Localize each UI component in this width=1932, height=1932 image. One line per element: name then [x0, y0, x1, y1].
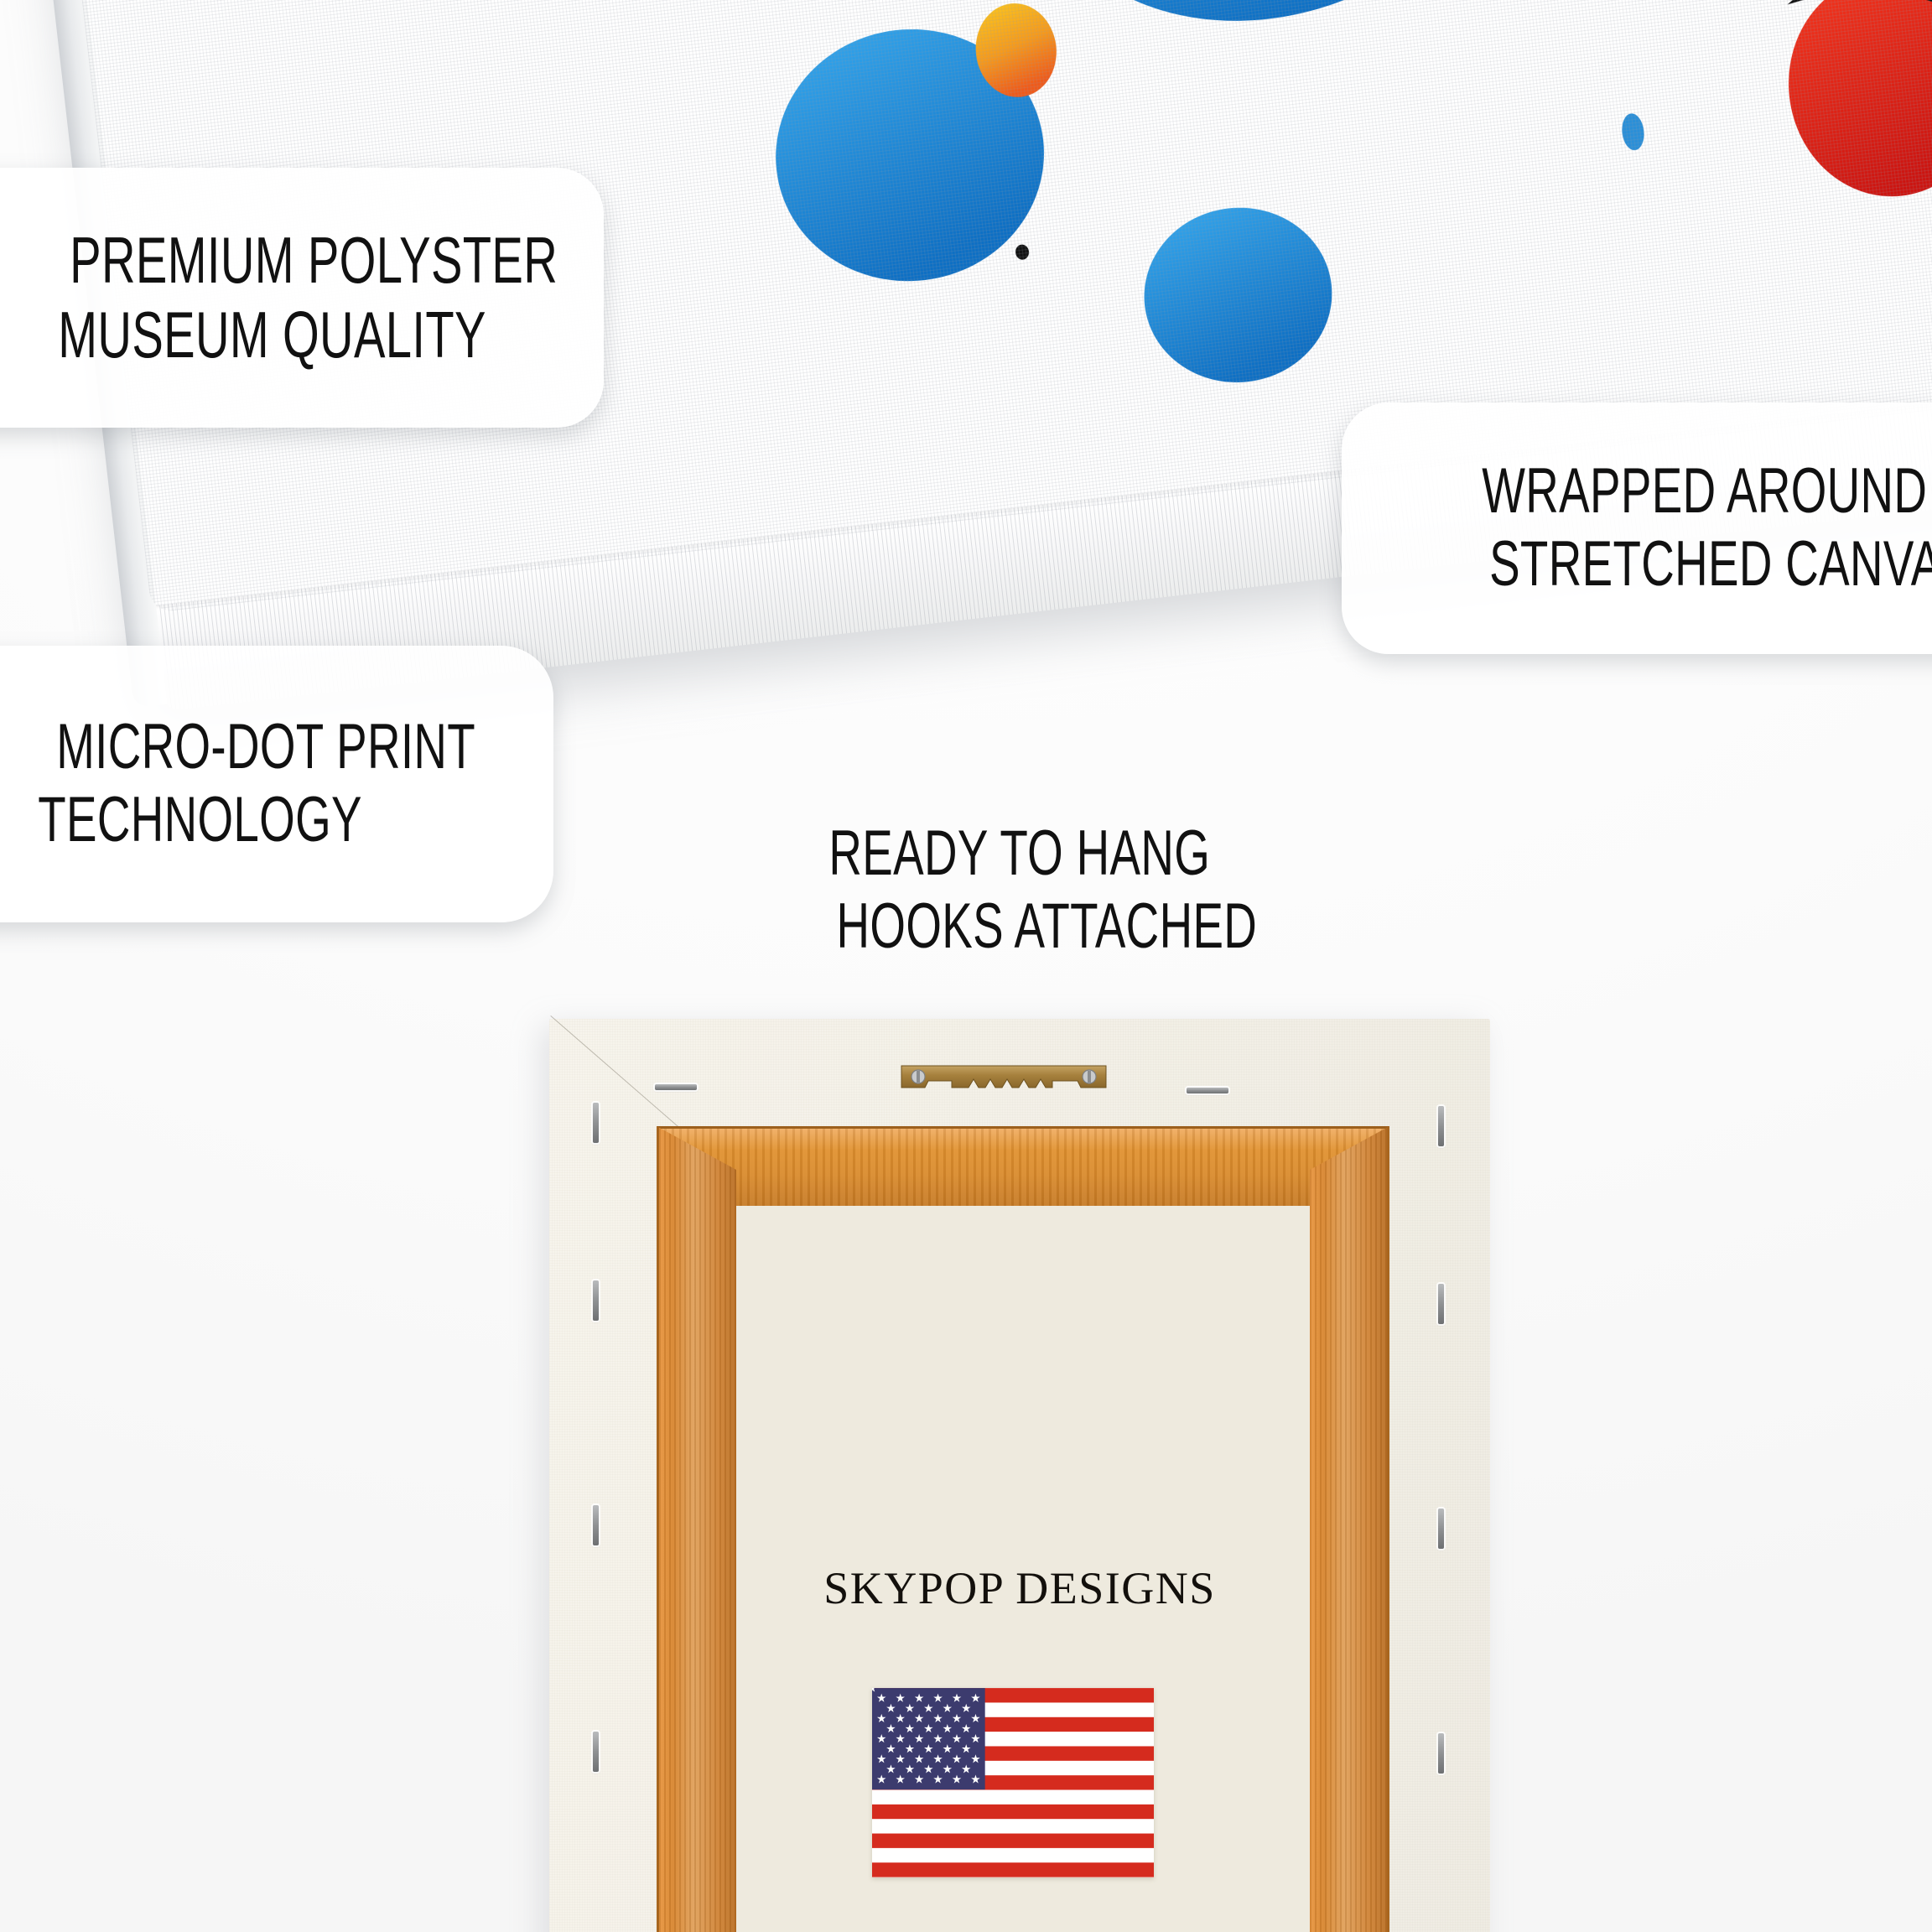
staple	[1438, 1284, 1444, 1324]
badge-microdot-line-2: TECHNOLOGY	[38, 784, 362, 857]
stretcher-bar-left	[657, 1126, 736, 1932]
stretcher-bar-top	[657, 1126, 1389, 1206]
badge-micro-dot-print-technology[interactable]: MICRO-DOT PRINT TECHNOLOGY	[0, 646, 553, 922]
brand-label: SKYPOP DESIGNS	[549, 1562, 1490, 1614]
flag-canton	[872, 1688, 985, 1789]
sawtooth-hanger-icon	[900, 1059, 1108, 1096]
speckle	[1015, 244, 1030, 261]
staple	[593, 1505, 599, 1545]
blue-paint-shape	[1037, 0, 1681, 43]
badge-premium-polyster[interactable]: PREMIUM POLYSTER MUSEUM QUALITY	[0, 168, 604, 428]
canvas-back-view: SKYPOP DESIGNS	[549, 1019, 1490, 1932]
staple	[1438, 1106, 1444, 1146]
blue-dot-2	[1135, 198, 1341, 392]
brand-name: SKYPOP DESIGNS	[823, 1563, 1216, 1613]
badge-premium-line-2: MUSEUM QUALITY	[58, 298, 486, 372]
stretcher-bar-right	[1310, 1126, 1389, 1932]
red-dot-right	[1777, 0, 1932, 207]
canvas-back-panel: SKYPOP DESIGNS	[549, 1019, 1490, 1932]
red-shape-hole-2	[554, 0, 711, 78]
badge-wrapped-line-2: STRETCHED CANVAS	[1489, 528, 1932, 601]
american-flag-icon	[872, 1688, 1154, 1877]
staple	[1438, 1733, 1444, 1774]
staple	[593, 1280, 599, 1321]
product-infographic: PREMIUM POLYSTER MUSEUM QUALITY WRAPPED …	[0, 0, 1932, 1932]
badge-wrapped-line-1: WRAPPED AROUND	[1482, 455, 1927, 528]
staple	[593, 1103, 599, 1143]
staple	[1187, 1088, 1228, 1093]
staple	[1438, 1509, 1444, 1549]
label-ready-to-hang: READY TO HANG HOOKS ATTACHED	[755, 818, 1342, 963]
badge-premium-line-1: PREMIUM POLYSTER	[70, 223, 558, 298]
label-ready-line-2: HOOKS ATTACHED	[837, 891, 1258, 963]
badge-microdot-line-1: MICRO-DOT PRINT	[56, 711, 475, 784]
speckle-blue	[1620, 112, 1646, 152]
staple	[655, 1084, 697, 1090]
badge-wrapped-around-stretched-canvas[interactable]: WRAPPED AROUND STRETCHED CANVAS	[1342, 402, 1932, 654]
staple	[593, 1732, 599, 1772]
label-ready-line-1: READY TO HANG	[828, 818, 1210, 891]
